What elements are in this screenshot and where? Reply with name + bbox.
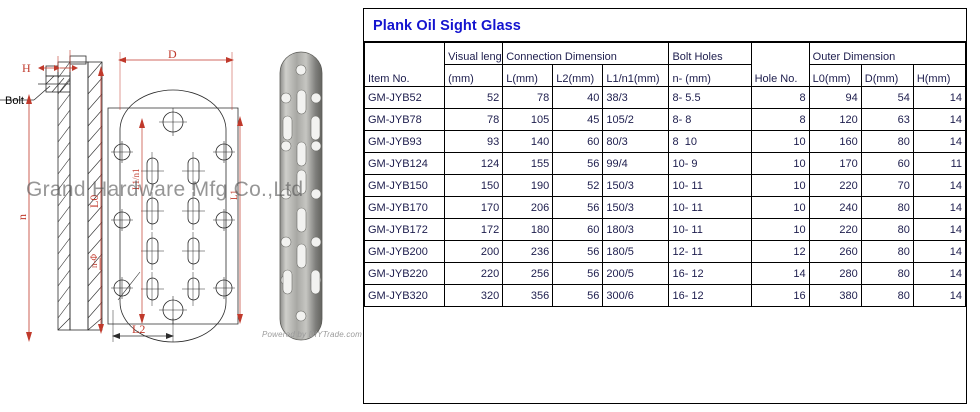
header-unit-d: D(mm)	[861, 65, 913, 87]
cell-d: 80	[861, 131, 913, 153]
cell-d: 60	[861, 153, 913, 175]
header-hole-no: Hole No.	[751, 43, 809, 87]
header-visual-length: Visual length	[445, 43, 503, 65]
cell-hole-no: 16	[751, 285, 809, 307]
cell-l1-n1: 180/3	[603, 219, 669, 241]
cell-item-no: GM-JYB93	[365, 131, 445, 153]
cell-l: 78	[503, 87, 553, 109]
cell-l2: 45	[553, 109, 603, 131]
table-row: GM-JYB5252784038/38-΢ 5.58945414	[365, 87, 966, 109]
cell-bolt-holes: 10-΢ 11	[669, 175, 751, 197]
cell-l0: 94	[809, 87, 861, 109]
table-row: GM-JYB787810545105/28-΢ 881206314	[365, 109, 966, 131]
cell-l2: 60	[553, 131, 603, 153]
cell-visual-length: 150	[445, 175, 503, 197]
drawing-label-l2: L2	[132, 322, 145, 336]
header-unit-l: L(mm)	[503, 65, 553, 87]
cell-l2: 56	[553, 263, 603, 285]
cell-d: 80	[861, 241, 913, 263]
cell-h: 14	[913, 87, 965, 109]
cell-h: 14	[913, 175, 965, 197]
spec-table-title: Plank Oil Sight Glass	[364, 9, 966, 42]
cell-l2: 56	[553, 153, 603, 175]
cell-l0: 220	[809, 175, 861, 197]
cell-l2: 56	[553, 241, 603, 263]
cell-l1-n1: 300/6	[603, 285, 669, 307]
cell-bolt-holes: 10-΢ 9	[669, 153, 751, 175]
table-row: GM-JYB17217218060180/310-΢ 11102208014	[365, 219, 966, 241]
cell-l2: 60	[553, 219, 603, 241]
cell-h: 14	[913, 131, 965, 153]
cell-bolt-holes: 10-΢ 11	[669, 197, 751, 219]
cell-d: 80	[861, 263, 913, 285]
cell-l1-n1: 150/3	[603, 175, 669, 197]
cell-l1-n1: 99/4	[603, 153, 669, 175]
cell-l2: 56	[553, 285, 603, 307]
drawing-label-d: D	[168, 47, 177, 61]
cell-item-no: GM-JYB220	[365, 263, 445, 285]
cell-hole-no: 10	[751, 175, 809, 197]
cell-l1-n1: 200/5	[603, 263, 669, 285]
cell-l0: 170	[809, 153, 861, 175]
cell-item-no: GM-JYB52	[365, 87, 445, 109]
cell-l1-n1: 105/2	[603, 109, 669, 131]
header-outer-dimension: Outer Dimension	[809, 43, 965, 65]
cell-l1-n1: 180/5	[603, 241, 669, 263]
header-unit-h: H(mm)	[913, 65, 965, 87]
cell-bolt-holes: 12-΢ 11	[669, 241, 751, 263]
cell-hole-no: 8	[751, 87, 809, 109]
cell-d: 63	[861, 109, 913, 131]
cell-hole-no: 12	[751, 241, 809, 263]
company-watermark: Grand Hardware Mfg Co.,Ltd	[26, 178, 303, 202]
cell-l1-n1: 80/3	[603, 131, 669, 153]
cell-hole-no: 10	[751, 153, 809, 175]
table-row: GM-JYB15015019052150/310-΢ 11102207014	[365, 175, 966, 197]
cell-l0: 120	[809, 109, 861, 131]
cell-l0: 160	[809, 131, 861, 153]
cell-l: 180	[503, 219, 553, 241]
cell-bolt-holes: 16-΢ 12	[669, 263, 751, 285]
cell-item-no: GM-JYB320	[365, 285, 445, 307]
cell-l: 356	[503, 285, 553, 307]
cell-visual-length: 52	[445, 87, 503, 109]
cell-visual-length: 78	[445, 109, 503, 131]
cell-h: 14	[913, 197, 965, 219]
cell-d: 80	[861, 219, 913, 241]
cell-h: 14	[913, 263, 965, 285]
cell-l0: 220	[809, 219, 861, 241]
cell-l0: 260	[809, 241, 861, 263]
header-unit-l2: L2(mm)	[553, 65, 603, 87]
cell-l2: 40	[553, 87, 603, 109]
spec-table: Item No. Visual length Connection Dimens…	[364, 42, 966, 307]
cell-l2: 56	[553, 197, 603, 219]
cell-bolt-holes: 8-΢ 5.5	[669, 87, 751, 109]
table-row: GM-JYB17017020656150/310-΢ 11102408014	[365, 197, 966, 219]
cell-item-no: GM-JYB172	[365, 219, 445, 241]
cell-item-no: GM-JYB78	[365, 109, 445, 131]
cell-l0: 380	[809, 285, 861, 307]
spec-table-head: Item No. Visual length Connection Dimens…	[365, 43, 966, 87]
header-unit-l1n1: L1/n1(mm)	[603, 65, 669, 87]
cell-l: 256	[503, 263, 553, 285]
cell-l0: 280	[809, 263, 861, 285]
header-row-groups: Item No. Visual length Connection Dimens…	[365, 43, 966, 65]
cell-visual-length: 124	[445, 153, 503, 175]
cell-l0: 240	[809, 197, 861, 219]
table-row: GM-JYB32032035656300/616-΢ 12163808014	[365, 285, 966, 307]
drawing-label-bolt: Bolt	[5, 95, 24, 107]
cell-visual-length: 93	[445, 131, 503, 153]
cell-visual-length: 320	[445, 285, 503, 307]
cell-item-no: GM-JYB170	[365, 197, 445, 219]
cell-visual-length: 170	[445, 197, 503, 219]
cell-h: 14	[913, 109, 965, 131]
cell-hole-no: 8	[751, 109, 809, 131]
cell-l: 206	[503, 197, 553, 219]
specification-panel: Plank Oil Sight Glass Item No. Visual le…	[363, 8, 967, 404]
cell-item-no: GM-JYB150	[365, 175, 445, 197]
cell-l: 105	[503, 109, 553, 131]
diytrade-credit: Powered by DIYTrade.com	[262, 330, 362, 339]
cell-l: 140	[503, 131, 553, 153]
table-row: GM-JYB22022025656200/516-΢ 12142808014	[365, 263, 966, 285]
cell-hole-no: 10	[751, 197, 809, 219]
drawing-label-h: H	[22, 61, 31, 75]
cell-l1-n1: 150/3	[603, 197, 669, 219]
cell-d: 70	[861, 175, 913, 197]
drawing-label-n: n	[15, 214, 29, 220]
cell-h: 14	[913, 219, 965, 241]
cell-bolt-holes: 8 ΢ 10	[669, 131, 751, 153]
header-item-no: Item No.	[365, 43, 445, 87]
cell-h: 14	[913, 285, 965, 307]
cell-l2: 52	[553, 175, 603, 197]
cell-visual-length: 200	[445, 241, 503, 263]
cell-item-no: GM-JYB124	[365, 153, 445, 175]
cell-l: 236	[503, 241, 553, 263]
table-row: GM-JYB93931406080/38 ΢ 10101608014	[365, 131, 966, 153]
header-row-units: (mm) L(mm) L2(mm) L1/n1(mm) n-΢ (mm) L0(…	[365, 65, 966, 87]
spec-table-body: GM-JYB5252784038/38-΢ 5.58945414GM-JYB78…	[365, 87, 966, 307]
cell-h: 14	[913, 241, 965, 263]
cell-d: 80	[861, 197, 913, 219]
header-unit-l0: L0(mm)	[809, 65, 861, 87]
cell-bolt-holes: 10-΢ 11	[669, 219, 751, 241]
cell-hole-no: 10	[751, 131, 809, 153]
header-unit-bolt: n-΢ (mm)	[669, 65, 751, 87]
cell-d: 80	[861, 285, 913, 307]
header-unit-visual: (mm)	[445, 65, 503, 87]
cell-d: 54	[861, 87, 913, 109]
header-bolt-holes: Bolt Holes	[669, 43, 751, 65]
cell-bolt-holes: 8-΢ 8	[669, 109, 751, 131]
cell-l: 155	[503, 153, 553, 175]
cell-hole-no: 10	[751, 219, 809, 241]
cell-hole-no: 14	[751, 263, 809, 285]
table-row: GM-JYB20020023656180/512-΢ 11122608014	[365, 241, 966, 263]
cell-item-no: GM-JYB200	[365, 241, 445, 263]
header-connection-dimension: Connection Dimension	[503, 43, 669, 65]
drawing-label-n-phi: n-Φ	[89, 254, 99, 268]
cell-visual-length: 172	[445, 219, 503, 241]
cell-l: 190	[503, 175, 553, 197]
table-row: GM-JYB1241241555699/410-΢ 9101706011	[365, 153, 966, 175]
cell-h: 11	[913, 153, 965, 175]
technical-drawing-panel: H Bolt n D L0 L1/n1 L1 L2 n-Φ	[0, 0, 356, 412]
cell-visual-length: 220	[445, 263, 503, 285]
cell-bolt-holes: 16-΢ 12	[669, 285, 751, 307]
cell-l1-n1: 38/3	[603, 87, 669, 109]
